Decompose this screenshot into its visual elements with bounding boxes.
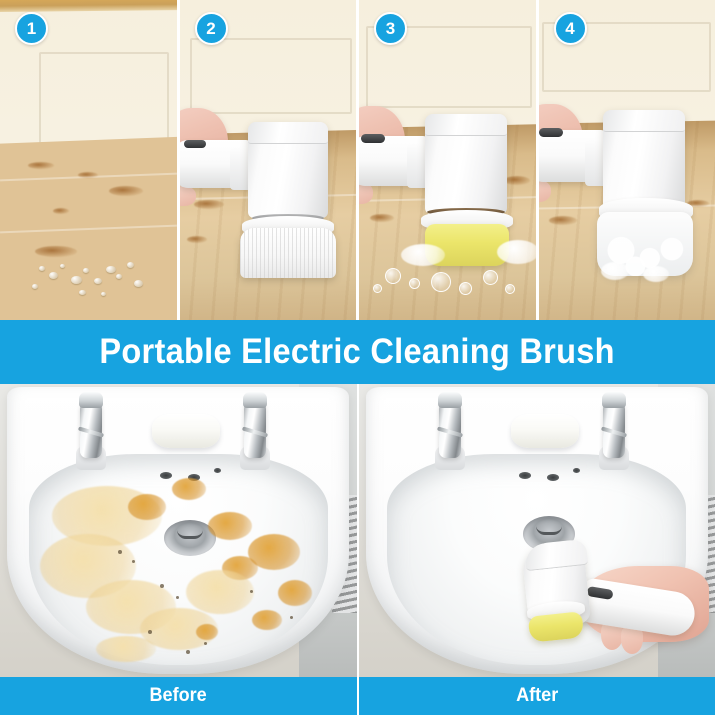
food-debris [208, 512, 252, 540]
debris-speck [148, 630, 152, 634]
soap-bubble [409, 278, 420, 289]
device-cap [248, 122, 328, 144]
soap-suds [601, 262, 629, 280]
step-panel-2: 2 [180, 0, 360, 320]
wood-stain [53, 208, 69, 214]
step-panel-1: 1 [0, 0, 180, 320]
bristle-brush-head [240, 228, 336, 278]
wall-panel-outline [190, 38, 352, 114]
water-droplet [83, 268, 89, 273]
device-cap [425, 114, 507, 136]
soap-bubble [459, 282, 472, 295]
overflow-hole [573, 468, 580, 473]
overflow-hole [547, 474, 559, 481]
title-banner: Portable Electric Cleaning Brush [0, 320, 715, 384]
soap-bubble [431, 272, 451, 292]
device-cap [603, 110, 685, 132]
faucet-knob-left [438, 392, 462, 408]
before-image [0, 384, 359, 677]
wood-stain [28, 162, 54, 169]
before-label-cell: Before [0, 677, 359, 715]
step-panel-4: 4 [539, 0, 715, 320]
water-droplet [60, 264, 65, 268]
scene-dirty-wood [0, 0, 177, 320]
step-number-2: 2 [206, 20, 215, 37]
after-label: After [516, 685, 558, 707]
soap-suds [643, 266, 669, 282]
wood-stain [504, 176, 530, 185]
after-label-cell: After [359, 677, 715, 715]
step-number-3: 3 [386, 20, 395, 37]
water-droplet [71, 276, 82, 284]
soap-bubble [483, 270, 498, 285]
wood-stain [78, 172, 98, 178]
step-number-1: 1 [27, 20, 36, 37]
power-button [184, 140, 206, 148]
soap-bar [152, 414, 220, 448]
debris-speck [118, 550, 122, 554]
food-debris [128, 494, 166, 520]
step-number-4: 4 [565, 20, 574, 37]
wood-stain [187, 236, 207, 243]
before-after-row [0, 384, 715, 677]
water-droplet [39, 266, 45, 271]
step-badge-1: 1 [15, 12, 48, 45]
food-debris [96, 636, 156, 662]
power-button [361, 134, 385, 143]
wood-stain [35, 246, 77, 257]
wall-panel-outline [39, 52, 170, 144]
debris-speck [250, 590, 253, 593]
overflow-hole [214, 468, 221, 473]
overflow-hole [160, 472, 172, 479]
product-infographic: 1 [0, 0, 715, 715]
soap-bubble [385, 268, 401, 284]
water-droplet [32, 284, 38, 289]
wall-trim [0, 0, 180, 12]
wood-stain [549, 216, 577, 225]
faucet-knob-right [602, 392, 626, 408]
faucet-knob-right [243, 392, 267, 408]
debris-speck [132, 560, 135, 563]
water-droplet [106, 266, 116, 273]
food-debris [252, 610, 282, 630]
wood-stain [370, 214, 394, 222]
overflow-hole [519, 472, 531, 479]
step-badge-2: 2 [195, 12, 228, 45]
soap-bubble [505, 284, 515, 294]
step-badge-4: 4 [554, 12, 587, 45]
food-debris [186, 570, 254, 614]
debris-speck [290, 616, 293, 619]
drain-slot [536, 526, 562, 535]
steps-row: 1 [0, 0, 715, 320]
food-debris [278, 580, 312, 606]
debris-speck [204, 642, 207, 645]
before-label: Before [150, 685, 207, 707]
water-droplet [101, 292, 106, 296]
wood-stain [194, 200, 224, 209]
power-button [539, 128, 563, 137]
soap-suds [497, 240, 539, 264]
soap-bar [511, 414, 579, 448]
water-droplet [94, 278, 102, 284]
step-badge-3: 3 [374, 12, 407, 45]
scene-brush-sponge [359, 0, 536, 320]
food-debris [172, 478, 206, 500]
debris-speck [176, 596, 179, 599]
product-title: Portable Electric Cleaning Brush [100, 332, 615, 372]
after-image [359, 384, 715, 677]
soap-suds [401, 244, 445, 266]
debris-speck [160, 584, 164, 588]
debris-speck [186, 650, 190, 654]
scene-brush-bristle [180, 0, 357, 320]
food-debris [196, 624, 218, 640]
step-panel-3: 3 [359, 0, 539, 320]
scene-brush-foam [539, 0, 715, 320]
before-after-label-bar: Before After [0, 677, 715, 715]
soap-bubble [373, 284, 382, 293]
faucet-knob-left [79, 392, 103, 408]
